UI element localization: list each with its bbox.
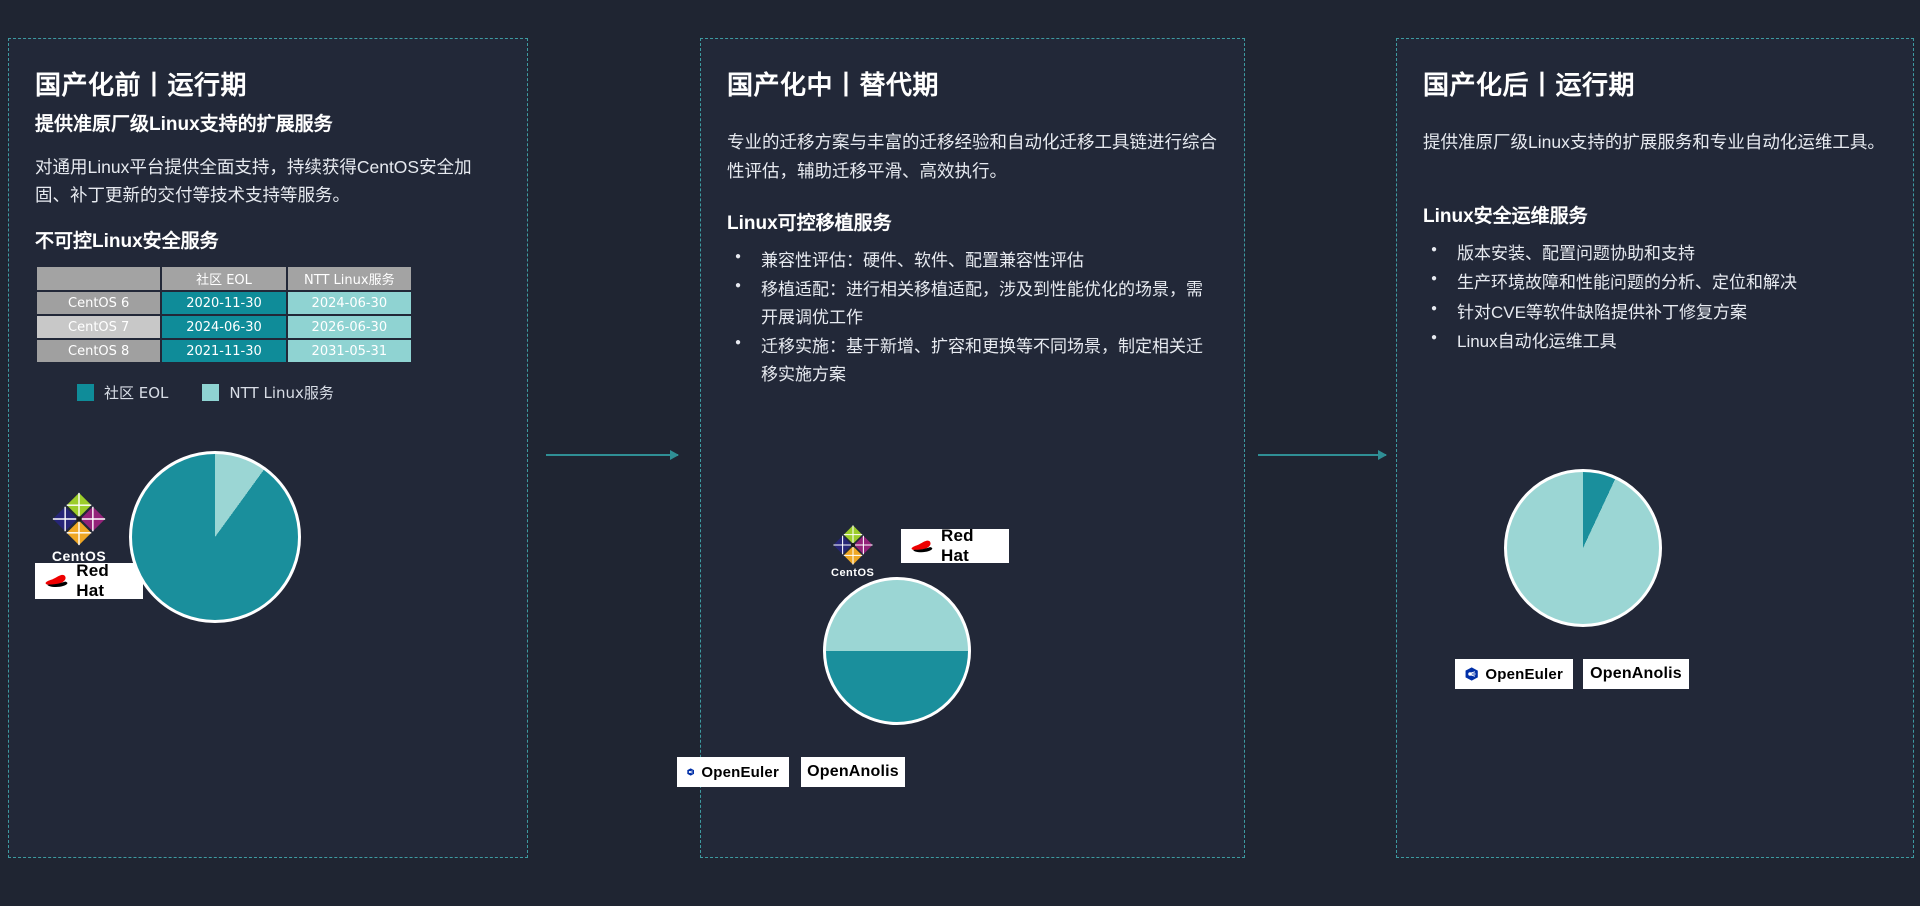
openeuler-icon	[1465, 663, 1478, 685]
list-item: 移植适配：进行相关移植适配，涉及到性能优化的场景，需开展调优工作	[727, 276, 1218, 331]
pie-chart-during	[823, 577, 971, 725]
list-item: 针对CVE等软件缺陷提供补丁修复方案	[1423, 299, 1887, 327]
pie-slices	[1504, 469, 1662, 627]
centos-icon	[51, 491, 107, 547]
list-item: 版本安装、配置问题协助和支持	[1423, 240, 1887, 268]
panel-section-title: 不可控Linux安全服务	[35, 226, 501, 253]
table-cell-eol-date: 2020-11-30	[162, 292, 285, 314]
pie-chart-before	[129, 451, 301, 623]
redhat-fedora-icon	[911, 537, 934, 556]
table-cell-ntt-date: 2024-06-30	[288, 292, 411, 314]
table-cell-eol-date: 2024-06-30	[162, 316, 285, 338]
arrow-right-icon-1	[546, 454, 678, 456]
pie-chart-after	[1504, 469, 1662, 627]
arrow-right-icon-2	[1258, 454, 1386, 456]
table-row: CentOS 8 2021-11-30 2031-05-31	[37, 340, 411, 362]
pie-slices	[129, 451, 301, 623]
openeuler-icon	[687, 761, 694, 783]
table-cell-os-name: CentOS 6	[37, 292, 160, 314]
panel-section-title: Linux可控移植服务	[727, 208, 1218, 235]
table-header-ntt-service: NTT Linux服务	[288, 267, 411, 290]
openeuler-logo-label: OpenEuler	[701, 764, 779, 781]
panel-section-title: Linux安全运维服务	[1423, 201, 1887, 228]
panel-subtitle: 提供准原厂级Linux支持的扩展服务	[35, 112, 501, 139]
table-cell-ntt-date: 2031-05-31	[288, 340, 411, 362]
panel-during-localization: 国产化中丨替代期 专业的迁移方案与丰富的迁移经验和自动化迁移工具链进行综合性评估…	[700, 38, 1245, 858]
centos-icon	[832, 524, 874, 566]
table-cell-os-name: CentOS 7	[37, 316, 160, 338]
service-bullet-list: 兼容性评估：硬件、软件、配置兼容性评估 移植适配：进行相关移植适配，涉及到性能优…	[727, 247, 1218, 389]
panel-description: 专业的迁移方案与丰富的迁移经验和自动化迁移工具链进行综合性评估，辅助迁移平滑、高…	[727, 128, 1218, 186]
panel-title: 国产化中丨替代期	[727, 65, 1218, 102]
legend-label: 社区 EOL	[104, 382, 168, 403]
legend-item-community-eol: 社区 EOL	[77, 382, 168, 403]
table-cell-ntt-date: 2026-06-30	[288, 316, 411, 338]
openanolis-logo: OpenAnolis	[1583, 659, 1689, 689]
list-item: 生产环境故障和性能问题的分析、定位和解决	[1423, 269, 1887, 297]
redhat-fedora-icon	[45, 571, 69, 591]
table-cell-eol-date: 2021-11-30	[162, 340, 285, 362]
centos-eol-table: 社区 EOL NTT Linux服务 CentOS 6 2020-11-30 2…	[35, 265, 413, 364]
panel-title: 国产化后丨运行期	[1423, 65, 1887, 102]
chart-legend: 社区 EOL NTT Linux服务	[77, 382, 501, 403]
panel-title: 国产化前丨运行期	[35, 65, 501, 102]
table-cell-os-name: CentOS 8	[37, 340, 160, 362]
panel-description: 提供准原厂级Linux支持的扩展服务和专业自动化运维工具。	[1423, 128, 1887, 157]
list-item: 迁移实施：基于新增、扩容和更换等不同场景，制定相关迁移实施方案	[727, 333, 1218, 388]
centos-logo: CentOS	[51, 491, 107, 564]
redhat-logo: Red Hat	[901, 529, 1009, 563]
panel-description: 对通用Linux平台提供全面支持，持续获得CentOS安全加固、补丁更新的交付等…	[35, 153, 501, 211]
redhat-logo: Red Hat	[35, 563, 143, 599]
table-row: CentOS 7 2024-06-30 2026-06-30	[37, 316, 411, 338]
redhat-logo-label: Red Hat	[941, 526, 999, 566]
legend-item-ntt-service: NTT Linux服务	[202, 382, 333, 403]
list-item: 兼容性评估：硬件、软件、配置兼容性评估	[727, 247, 1218, 275]
pie-slices	[823, 577, 971, 725]
openeuler-logo-label: OpenEuler	[1485, 666, 1563, 683]
list-item: Linux自动化运维工具	[1423, 328, 1887, 356]
openeuler-logo: OpenEuler	[1455, 659, 1573, 689]
infographic-canvas: 国产化前丨运行期 提供准原厂级Linux支持的扩展服务 对通用Linux平台提供…	[0, 0, 1920, 906]
service-bullet-list: 版本安装、配置问题协助和支持 生产环境故障和性能问题的分析、定位和解决 针对CV…	[1423, 240, 1887, 356]
panel-after-localization: 国产化后丨运行期 提供准原厂级Linux支持的扩展服务和专业自动化运维工具。 L…	[1396, 38, 1914, 858]
openeuler-logo: OpenEuler	[677, 757, 789, 787]
table-row: CentOS 6 2020-11-30 2024-06-30	[37, 292, 411, 314]
centos-logo: CentOS	[831, 524, 874, 579]
legend-swatch-icon	[202, 384, 219, 401]
openanolis-logo-label: OpenAnolis	[807, 763, 899, 781]
openanolis-logo-label: OpenAnolis	[1590, 665, 1682, 683]
panel-before-localization: 国产化前丨运行期 提供准原厂级Linux支持的扩展服务 对通用Linux平台提供…	[8, 38, 528, 858]
openanolis-logo: OpenAnolis	[801, 757, 905, 787]
table-header-blank	[37, 267, 160, 290]
table-header-row: 社区 EOL NTT Linux服务	[37, 267, 411, 290]
legend-label: NTT Linux服务	[229, 382, 333, 403]
redhat-logo-label: Red Hat	[76, 561, 133, 601]
legend-swatch-icon	[77, 384, 94, 401]
table-header-community-eol: 社区 EOL	[162, 267, 285, 290]
